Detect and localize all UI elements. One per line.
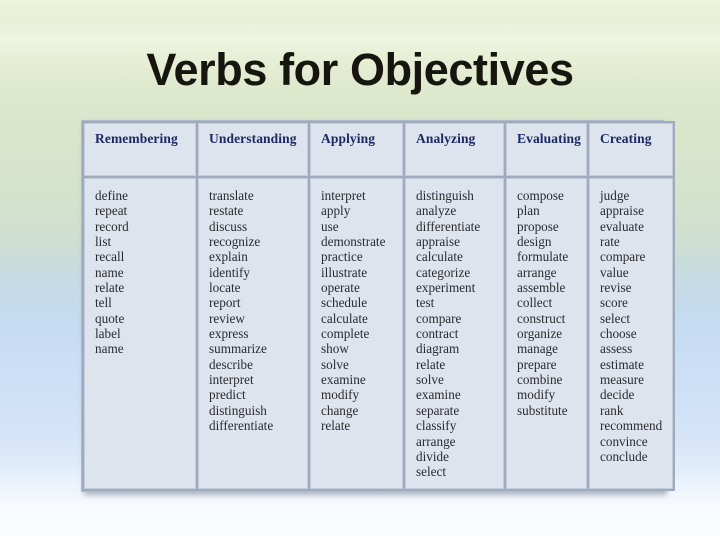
verb-item: label: [95, 326, 195, 341]
verb-item: appraise: [416, 234, 503, 249]
verb-list-applying: interpretapplyusedemonstratepracticeillu…: [321, 188, 402, 434]
verb-item: plan: [517, 203, 586, 218]
verb-item: divide: [416, 449, 503, 464]
verb-item: distinguish: [416, 188, 503, 203]
verb-item: illustrate: [321, 265, 402, 280]
column-header-analyzing: Analyzing: [405, 123, 504, 176]
verb-item: solve: [416, 372, 503, 387]
verb-item: compose: [517, 188, 586, 203]
verb-cell-evaluating: composeplanproposedesignformulatearrange…: [506, 178, 587, 489]
verb-item: organize: [517, 326, 586, 341]
verb-item: use: [321, 219, 402, 234]
verb-item: combine: [517, 372, 586, 387]
verb-item: practice: [321, 249, 402, 264]
verb-item: compare: [600, 249, 672, 264]
verb-item: apply: [321, 203, 402, 218]
verb-item: restate: [209, 203, 307, 218]
verb-item: report: [209, 295, 307, 310]
verb-item: design: [517, 234, 586, 249]
verb-list-creating: judgeappraiseevaluateratecomparevaluerev…: [600, 188, 672, 464]
verb-list-analyzing: distinguishanalyzedifferentiateappraisec…: [416, 188, 503, 480]
verb-item: differentiate: [209, 418, 307, 433]
verb-item: demonstrate: [321, 234, 402, 249]
verb-item: discuss: [209, 219, 307, 234]
verb-item: relate: [95, 280, 195, 295]
page-title: Verbs for Objectives: [0, 44, 720, 96]
verb-item: interpret: [321, 188, 402, 203]
verb-list-understanding: translaterestatediscussrecognizeexplaini…: [209, 188, 307, 434]
verb-item: name: [95, 265, 195, 280]
verb-item: explain: [209, 249, 307, 264]
verb-item: relate: [321, 418, 402, 433]
verb-item: formulate: [517, 249, 586, 264]
verb-item: estimate: [600, 357, 672, 372]
column-header-creating: Creating: [589, 123, 673, 176]
column-header-remembering: Remembering: [84, 123, 196, 176]
verb-item: judge: [600, 188, 672, 203]
verb-item: modify: [321, 387, 402, 402]
column-header-understanding: Understanding: [198, 123, 308, 176]
verb-item: substitute: [517, 403, 586, 418]
verb-item: repeat: [95, 203, 195, 218]
verb-item: differentiate: [416, 219, 503, 234]
verb-item: solve: [321, 357, 402, 372]
verb-item: rank: [600, 403, 672, 418]
verb-item: prepare: [517, 357, 586, 372]
verb-item: appraise: [600, 203, 672, 218]
verb-item: identify: [209, 265, 307, 280]
verb-item: classify: [416, 418, 503, 433]
verb-item: propose: [517, 219, 586, 234]
verb-cell-remembering: definerepeatrecordlistrecallnamerelatete…: [84, 178, 196, 489]
verbs-table: Remembering Understanding Applying Analy…: [82, 121, 675, 491]
verb-item: conclude: [600, 449, 672, 464]
verb-item: contract: [416, 326, 503, 341]
verb-item: summarize: [209, 341, 307, 356]
verb-item: rate: [600, 234, 672, 249]
verb-item: arrange: [517, 265, 586, 280]
verb-item: evaluate: [600, 219, 672, 234]
table-header-row: Remembering Understanding Applying Analy…: [84, 123, 673, 176]
verb-list-evaluating: composeplanproposedesignformulatearrange…: [517, 188, 586, 418]
verb-item: select: [600, 311, 672, 326]
verb-item: complete: [321, 326, 402, 341]
verb-item: assess: [600, 341, 672, 356]
verb-item: decide: [600, 387, 672, 402]
verb-item: revise: [600, 280, 672, 295]
verb-item: list: [95, 234, 195, 249]
verb-item: predict: [209, 387, 307, 402]
verb-list-remembering: definerepeatrecordlistrecallnamerelatete…: [95, 188, 195, 357]
verb-item: define: [95, 188, 195, 203]
verb-item: recommend: [600, 418, 672, 433]
verb-item: recall: [95, 249, 195, 264]
verb-cell-creating: judgeappraiseevaluateratecomparevaluerev…: [589, 178, 673, 489]
verb-item: analyze: [416, 203, 503, 218]
column-header-applying: Applying: [310, 123, 403, 176]
verb-item: construct: [517, 311, 586, 326]
verbs-table-container: Remembering Understanding Applying Analy…: [81, 120, 664, 492]
verb-item: arrange: [416, 434, 503, 449]
verb-item: diagram: [416, 341, 503, 356]
verb-item: value: [600, 265, 672, 280]
verb-item: relate: [416, 357, 503, 372]
verb-item: operate: [321, 280, 402, 295]
verb-item: select: [416, 464, 503, 479]
verb-item: change: [321, 403, 402, 418]
verb-item: recognize: [209, 234, 307, 249]
verb-item: review: [209, 311, 307, 326]
verb-item: describe: [209, 357, 307, 372]
verb-item: assemble: [517, 280, 586, 295]
verb-item: choose: [600, 326, 672, 341]
verb-item: calculate: [321, 311, 402, 326]
verb-item: manage: [517, 341, 586, 356]
verb-item: modify: [517, 387, 586, 402]
verb-item: categorize: [416, 265, 503, 280]
verb-item: quote: [95, 311, 195, 326]
verb-item: schedule: [321, 295, 402, 310]
verb-item: test: [416, 295, 503, 310]
verb-item: measure: [600, 372, 672, 387]
verb-item: tell: [95, 295, 195, 310]
verb-item: record: [95, 219, 195, 234]
verb-item: express: [209, 326, 307, 341]
verb-item: examine: [321, 372, 402, 387]
verb-item: compare: [416, 311, 503, 326]
verb-item: collect: [517, 295, 586, 310]
column-header-evaluating: Evaluating: [506, 123, 587, 176]
verb-item: score: [600, 295, 672, 310]
verb-item: locate: [209, 280, 307, 295]
verb-item: distinguish: [209, 403, 307, 418]
verb-item: examine: [416, 387, 503, 402]
verb-item: name: [95, 341, 195, 356]
slide-canvas: Verbs for Objectives Remembering Underst…: [0, 0, 720, 536]
verb-item: calculate: [416, 249, 503, 264]
verb-item: separate: [416, 403, 503, 418]
verb-item: show: [321, 341, 402, 356]
verb-item: convince: [600, 434, 672, 449]
verb-item: interpret: [209, 372, 307, 387]
verb-item: translate: [209, 188, 307, 203]
verb-cell-understanding: translaterestatediscussrecognizeexplaini…: [198, 178, 308, 489]
table-body-row: definerepeatrecordlistrecallnamerelatete…: [84, 178, 673, 489]
verb-cell-analyzing: distinguishanalyzedifferentiateappraisec…: [405, 178, 504, 489]
verb-cell-applying: interpretapplyusedemonstratepracticeillu…: [310, 178, 403, 489]
verb-item: experiment: [416, 280, 503, 295]
